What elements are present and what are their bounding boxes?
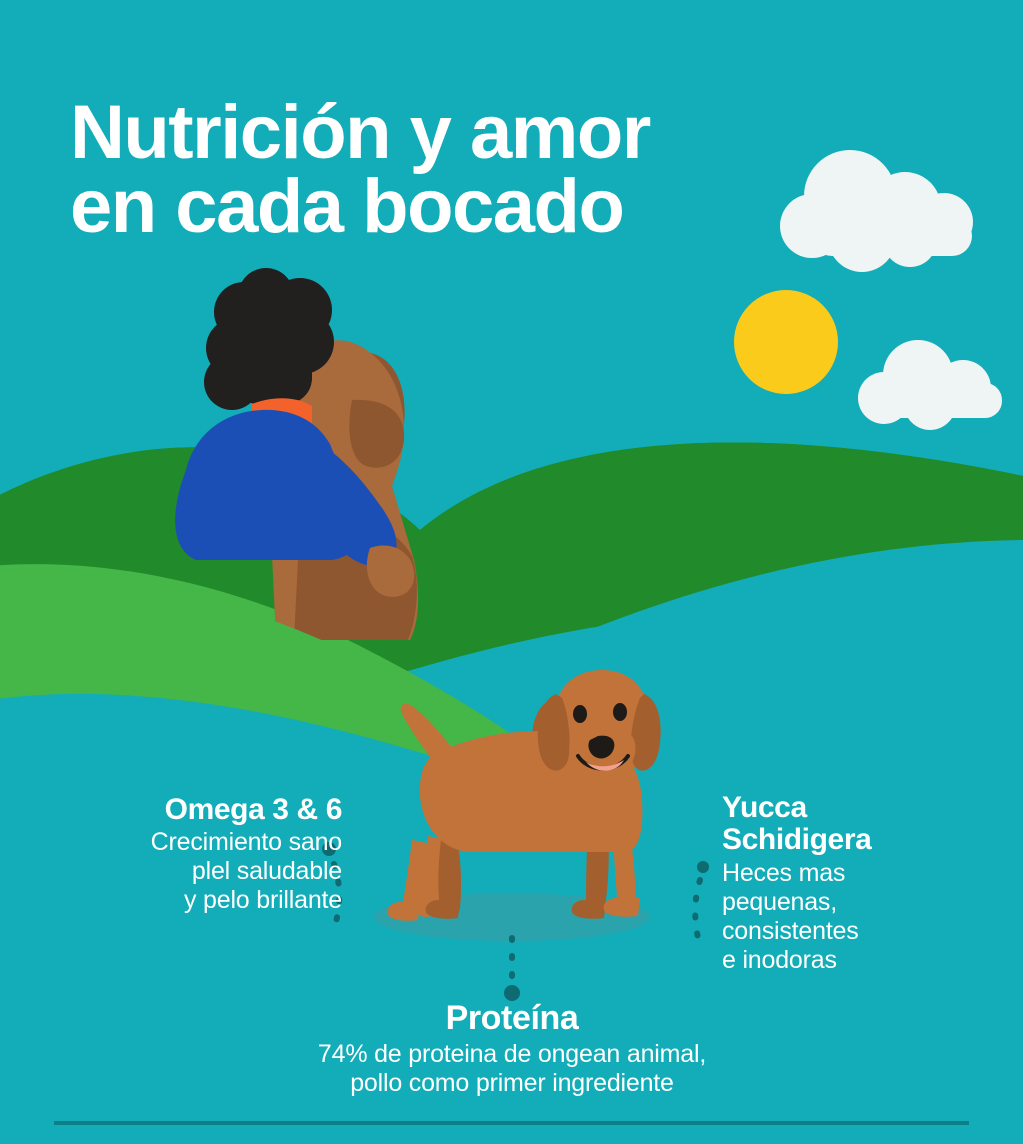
dog-paw-2 bbox=[426, 900, 460, 919]
callout-proteina-title: Proteína bbox=[212, 1000, 812, 1037]
dog-paw-3 bbox=[572, 900, 606, 919]
connector-yucca-dot bbox=[697, 861, 709, 873]
callout-omega-title: Omega 3 & 6 bbox=[70, 794, 342, 826]
sun-icon bbox=[734, 290, 838, 394]
callout-omega-body: Crecimiento sano plel saludable y pelo b… bbox=[70, 828, 342, 915]
callout-yucca-title: Yucca Schidigera bbox=[722, 792, 982, 857]
callout-proteina-body: 74% de proteina de ongean animal, pollo … bbox=[212, 1040, 812, 1098]
callout-proteina: Proteína 74% de proteina de ongean anima… bbox=[212, 1000, 812, 1098]
infographic-poster: Nutrición y amor en cada bocado Omega 3 … bbox=[0, 0, 1023, 1144]
callout-yucca-body: Heces mas pequenas, consistentes e inodo… bbox=[722, 859, 982, 975]
callout-omega: Omega 3 & 6 Crecimiento sano plel saluda… bbox=[70, 794, 342, 915]
dog-eye-right bbox=[613, 703, 627, 721]
dog-paw-4 bbox=[604, 898, 640, 917]
dog-paw-1 bbox=[388, 902, 420, 921]
callout-yucca: Yucca Schidigera Heces mas pequenas, con… bbox=[722, 792, 982, 975]
dog-eye-left bbox=[573, 705, 587, 723]
page-title: Nutrición y amor en cada bocado bbox=[70, 96, 830, 245]
